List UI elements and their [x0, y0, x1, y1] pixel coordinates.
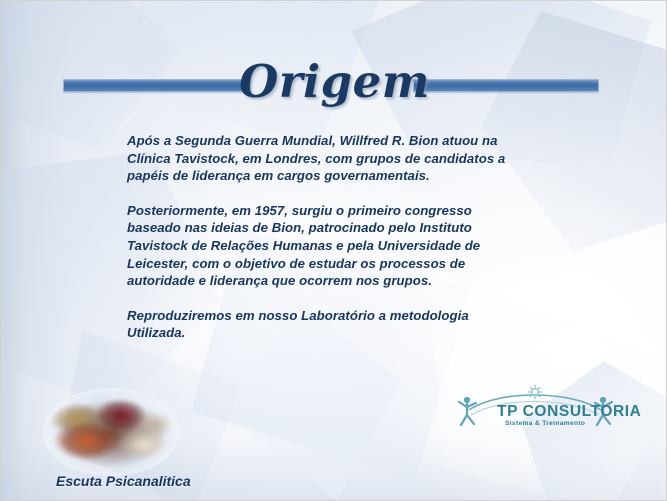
body-paragraph: Reproduziremos em nosso Laboratório a me…	[127, 307, 527, 342]
tp-consultoria-logo: TP CONSULTORIA Sistema & Treinamento	[449, 384, 629, 440]
psychoanalysis-photo	[49, 394, 173, 470]
photo-vignette	[43, 388, 179, 476]
slide-title: Origem	[1, 53, 667, 111]
logo-sun-icon	[529, 386, 542, 399]
title-row: Origem	[1, 53, 667, 111]
photo-caption: Escuta Psicanalitica	[56, 472, 191, 490]
logo-person-left-icon	[459, 397, 476, 425]
logo-company-name: TP CONSULTORIA	[497, 403, 641, 421]
logo-tagline: Sistema & Treinamento	[505, 420, 585, 427]
body-paragraph: Posteriormente, em 1957, surgiu o primei…	[127, 202, 527, 290]
body-paragraph: Após a Segunda Guerra Mundial, Willfred …	[127, 132, 527, 185]
presentation-slide: Origem Após a Segunda Guerra Mundial, Wi…	[0, 0, 667, 501]
slide-body: Após a Segunda Guerra Mundial, Willfred …	[127, 132, 527, 342]
